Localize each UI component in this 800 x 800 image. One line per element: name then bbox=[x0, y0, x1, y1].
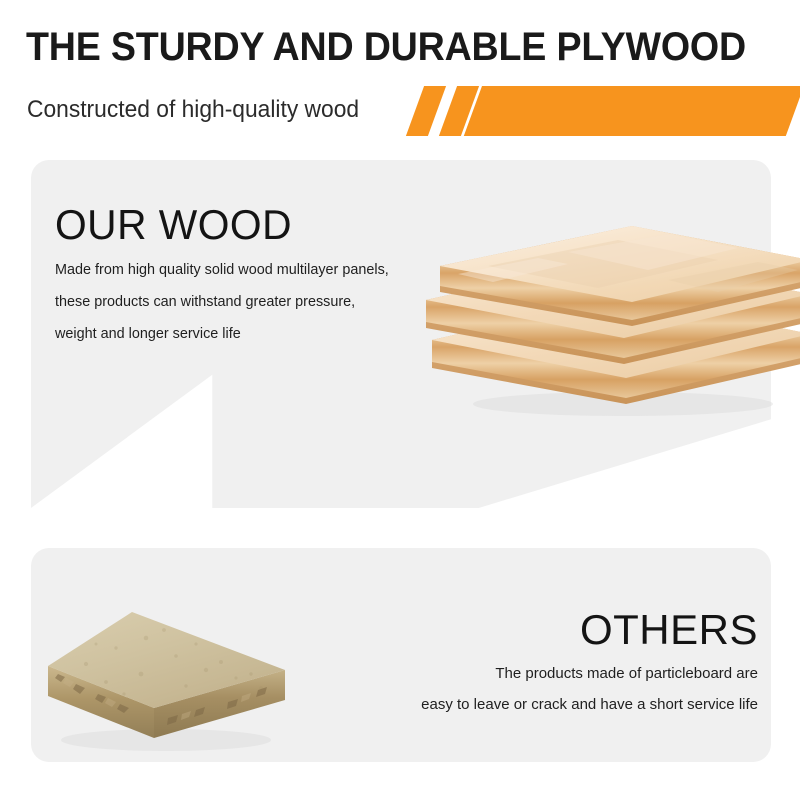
others-body-line: easy to leave or crack and have a short … bbox=[328, 694, 758, 715]
our-wood-panel-wedge bbox=[31, 372, 216, 508]
our-wood-text-block: OUR WOOD Made from high quality solid wo… bbox=[55, 200, 475, 356]
particleboard-image bbox=[46, 578, 296, 760]
plywood-stack-image bbox=[418, 222, 800, 422]
our-wood-body-line: Made from high quality solid wood multil… bbox=[55, 260, 458, 280]
chevron-band-icon bbox=[464, 86, 800, 136]
particleboard-slab bbox=[48, 612, 285, 738]
chevron-accent-group bbox=[410, 86, 800, 136]
our-wood-body-line: these products can withstand greater pre… bbox=[55, 292, 458, 312]
our-wood-body-line: weight and longer service life bbox=[55, 324, 458, 344]
chevron-stripe-icon bbox=[406, 86, 446, 136]
others-body-line: The products made of particleboard are bbox=[328, 663, 758, 684]
our-wood-body: Made from high quality solid wood multil… bbox=[55, 260, 475, 344]
page-title: THE STURDY AND DURABLE PLYWOOD bbox=[26, 24, 740, 70]
infographic-canvas: THE STURDY AND DURABLE PLYWOOD Construct… bbox=[0, 0, 800, 800]
others-heading: OTHERS bbox=[328, 605, 758, 655]
our-wood-heading: OUR WOOD bbox=[55, 200, 462, 250]
others-text-block: OTHERS The products made of particleboar… bbox=[328, 605, 758, 725]
page-subtitle: Constructed of high-quality wood bbox=[27, 95, 359, 125]
others-body: The products made of particleboard are e… bbox=[328, 663, 758, 715]
header: THE STURDY AND DURABLE PLYWOOD Construct… bbox=[0, 0, 800, 148]
